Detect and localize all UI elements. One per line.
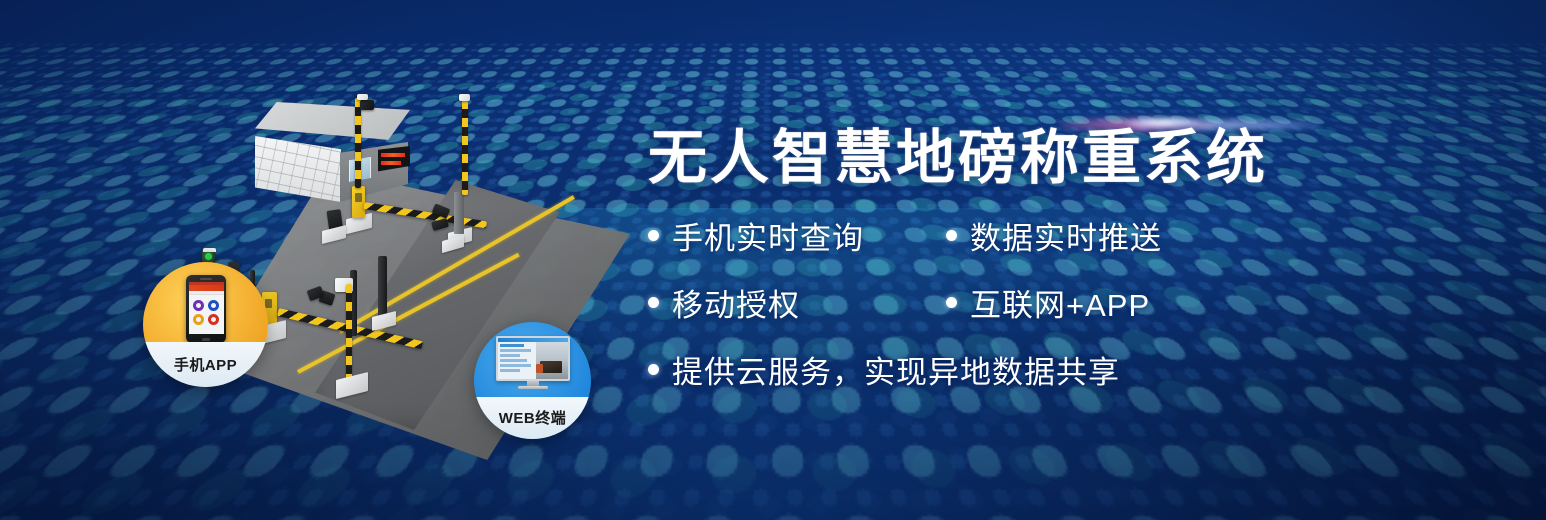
app-icon-orange bbox=[193, 314, 204, 325]
app-icon-red bbox=[208, 314, 219, 325]
feature-row: 手机实时查询 数据实时推送 bbox=[648, 213, 1348, 258]
guard-house bbox=[255, 102, 410, 210]
data-row bbox=[500, 359, 527, 362]
feature-label: 移动授权 bbox=[672, 280, 800, 325]
software-body bbox=[498, 342, 568, 379]
phone-speaker-icon bbox=[200, 278, 212, 280]
page-title: 无人智慧地磅称重系统 bbox=[648, 128, 1348, 189]
bullet-dot-icon bbox=[648, 297, 659, 308]
mobile-app-badge[interactable]: 手机APP bbox=[143, 262, 268, 387]
support-post bbox=[378, 256, 387, 318]
data-row bbox=[500, 354, 520, 357]
monitor-foot bbox=[518, 386, 548, 389]
camera-feed-panel bbox=[536, 342, 568, 379]
feature-item: 移动授权 bbox=[648, 280, 946, 325]
promo-copy-block: 无人智慧地磅称重系统 手机实时查询 数据实时推送 移动授权 bbox=[648, 128, 1348, 392]
phone-app-icon-grid bbox=[189, 295, 224, 330]
traffic-light-green-icon bbox=[205, 253, 212, 260]
desktop-monitor-icon bbox=[496, 336, 570, 389]
smartphone-icon bbox=[186, 275, 226, 343]
web-terminal-badge-label: WEB终端 bbox=[474, 397, 591, 439]
web-terminal-badge[interactable]: WEB终端 bbox=[474, 322, 591, 439]
feature-label: 数据实时推送 bbox=[970, 213, 1162, 258]
feature-row: 提供云服务，实现异地数据共享 bbox=[648, 347, 1348, 392]
camera-icon bbox=[360, 100, 374, 110]
feature-label: 提供云服务，实现异地数据共享 bbox=[672, 347, 1120, 392]
guard-house-tile-grid bbox=[255, 136, 341, 202]
feature-list: 手机实时查询 数据实时推送 移动授权 互联网+APP bbox=[648, 213, 1348, 392]
feature-item: 互联网+APP bbox=[946, 280, 1150, 325]
data-row bbox=[500, 344, 524, 347]
camera-pole-far bbox=[355, 98, 361, 188]
data-row bbox=[500, 349, 531, 352]
camera-icon bbox=[459, 94, 470, 101]
feature-item: 提供云服务，实现异地数据共享 bbox=[648, 347, 1120, 392]
feature-row: 移动授权 互联网+APP bbox=[648, 280, 1348, 325]
camera-housing-icon bbox=[357, 94, 368, 100]
led-text-row bbox=[381, 161, 401, 165]
data-row bbox=[500, 364, 531, 367]
barrier-gate-controller-far[interactable] bbox=[352, 186, 365, 218]
bullet-dot-icon bbox=[946, 230, 957, 241]
data-row bbox=[500, 369, 520, 372]
monitor-screen bbox=[496, 336, 570, 381]
app-icon-blue bbox=[208, 300, 219, 311]
guard-house-roof bbox=[255, 102, 410, 146]
mobile-app-badge-label: 手机APP bbox=[143, 342, 268, 387]
camera-pole-far-right bbox=[462, 100, 468, 195]
feature-label: 手机实时查询 bbox=[672, 213, 864, 258]
software-data-panel bbox=[498, 342, 536, 379]
traffic-light-visor-icon bbox=[203, 248, 216, 252]
app-icon-purple bbox=[193, 300, 204, 311]
feature-label: 互联网+APP bbox=[970, 280, 1150, 325]
feature-item: 数据实时推送 bbox=[946, 213, 1162, 258]
phone-screen bbox=[189, 282, 224, 334]
camera-pole-near bbox=[346, 284, 352, 382]
truck-icon bbox=[540, 361, 562, 373]
bullet-dot-icon bbox=[648, 230, 659, 241]
support-post bbox=[454, 192, 464, 234]
promo-banner: 手机APP bbox=[0, 0, 1546, 520]
bullet-dot-icon bbox=[946, 297, 957, 308]
phone-home-button-icon bbox=[202, 338, 210, 341]
led-text-row bbox=[381, 153, 405, 157]
feature-item: 手机实时查询 bbox=[648, 213, 946, 258]
bullet-dot-icon bbox=[648, 364, 659, 375]
